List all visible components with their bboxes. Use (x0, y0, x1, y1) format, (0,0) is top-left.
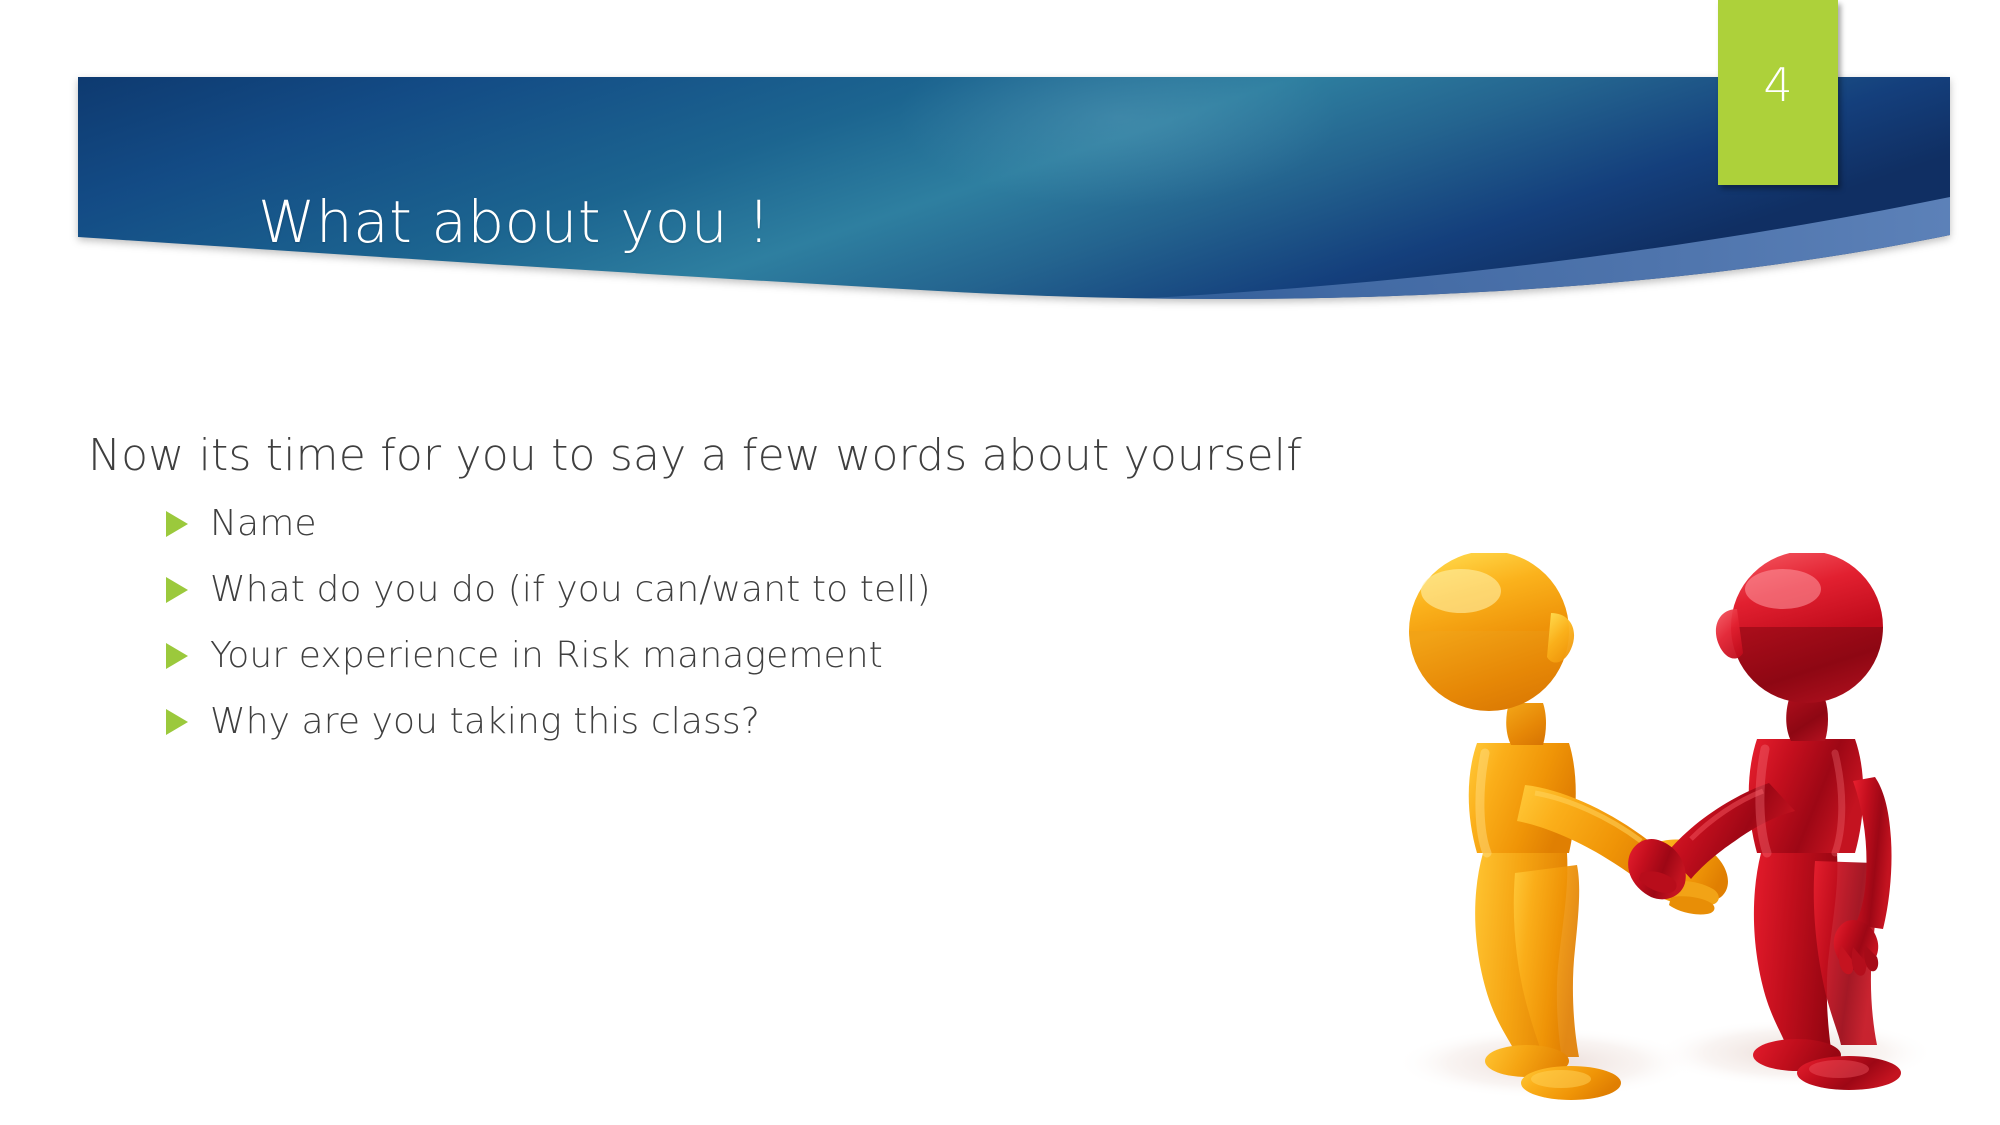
triangle-bullet-icon (166, 709, 188, 735)
list-item-label: Why are you taking this class? (210, 700, 760, 743)
list-item-label: Name (210, 502, 317, 545)
list-item-label: Your experience in Risk management (210, 634, 883, 677)
list-item: Name (88, 502, 1338, 546)
title-banner: What about you ! (78, 77, 1950, 307)
slide-number-badge: 4 (1718, 0, 1838, 185)
presentation-slide: What about you ! 4 Now its time for you … (0, 0, 2000, 1125)
list-item: Why are you taking this class? (88, 700, 1338, 744)
handshake-illustration (1365, 553, 1977, 1111)
list-item: Your experience in Risk management (88, 634, 1338, 678)
triangle-bullet-icon (166, 511, 188, 537)
slide-number-text: 4 (1718, 62, 1838, 108)
triangle-bullet-icon (166, 577, 188, 603)
handshake-image (1365, 553, 1977, 1111)
triangle-bullet-icon (166, 643, 188, 669)
list-item-label: What do you do (if you can/want to tell) (210, 568, 931, 611)
lead-paragraph: Now its time for you to say a few words … (88, 430, 1338, 482)
slide-body: Now its time for you to say a few words … (88, 430, 1338, 766)
list-item: What do you do (if you can/want to tell) (88, 568, 1338, 612)
page-title: What about you ! (258, 189, 771, 256)
bullet-list: Name What do you do (if you can/want to … (88, 502, 1338, 744)
